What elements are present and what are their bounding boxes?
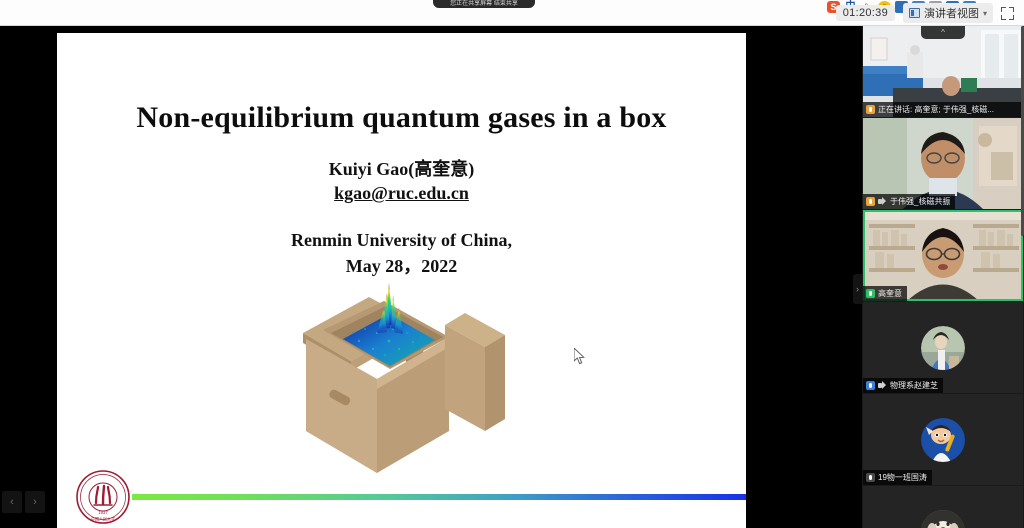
filmstrip-collapse-handle[interactable]: › [853, 274, 862, 304]
ruc-logo: 1937 中国人民大学 [75, 469, 131, 525]
participant-tile-gao-kuiyi[interactable]: 高奎意 [863, 210, 1023, 301]
author-name: Kuiyi Gao(高奎意) [57, 157, 746, 181]
slide-affiliation-block: Renmin University of China, May 28，2022 [57, 227, 746, 279]
avatar [921, 510, 965, 528]
participant-tile-speaking[interactable]: ^ 正在讲话: 高奎意; 于伟强_核磁... [863, 26, 1023, 117]
view-mode-switcher[interactable]: 演讲者视图 ▾ [903, 3, 993, 23]
participant-filmstrip[interactable]: ^ 正在讲话: 高奎意; 于伟强_核磁... 于伟强_核磁共振 [862, 26, 1024, 528]
mouse-cursor [574, 348, 586, 365]
svg-text:1937: 1937 [98, 510, 108, 515]
avatar [921, 326, 965, 370]
tile-name-guo-tao: 19物一班国涛 [878, 472, 927, 483]
filmstrip-collapse-icon[interactable]: ^ [921, 26, 965, 39]
microphone-muted-icon [866, 381, 875, 390]
presentation-slide: Non-equilibrium quantum gases in a box K… [57, 33, 746, 528]
speaker-icon [878, 381, 887, 390]
participant-tile-dog-avatar[interactable] [863, 486, 1023, 528]
meeting-timer: 01:20:39 [836, 5, 895, 21]
view-mode-label: 演讲者视图 [924, 5, 979, 21]
tile-name-speaking: 正在讲话: 高奎意; 于伟强_核磁... [878, 104, 994, 115]
microphone-active-icon [866, 289, 875, 298]
tile-label-gao-kuiyi: 高奎意 [863, 286, 907, 301]
tile-name-zhao-jianzhi: 物理系赵建芝 [890, 380, 938, 391]
slide-accent-bar [132, 494, 746, 500]
tile-label-zhao-jianzhi: 物理系赵建芝 [863, 378, 943, 393]
participant-tile-yu-weiqiang[interactable]: 于伟强_核磁共振 [863, 118, 1023, 209]
tile-label-speaking: 正在讲话: 高奎意; 于伟强_核磁... [863, 102, 1023, 117]
next-slide-button[interactable]: › [25, 491, 45, 513]
svg-text:中国人民大学: 中国人民大学 [91, 516, 115, 522]
topbar-right-controls: 01:20:39 演讲者视图 ▾ [836, 0, 1024, 26]
microphone-muted-icon [866, 473, 875, 482]
slide-title: Non-equilibrium quantum gases in a box [57, 101, 746, 135]
tile-name-gao-kuiyi: 高奎意 [878, 288, 902, 299]
microphone-icon [866, 197, 875, 206]
fullscreen-icon[interactable] [1001, 7, 1014, 20]
avatar [921, 418, 965, 462]
prev-slide-button[interactable]: ‹ [2, 491, 22, 513]
bec-in-a-box-figure [289, 281, 521, 483]
share-status-text: 您正在共享屏幕 结束共享 [450, 0, 518, 7]
tile-name-yu-weiqiang: 于伟强_核磁共振 [890, 196, 950, 207]
affiliation-line-1: Renmin University of China, [57, 227, 746, 253]
affiliation-line-2: May 28，2022 [57, 253, 746, 279]
avatar-container [863, 486, 1023, 528]
participant-tile-zhao-jianzhi[interactable]: 物理系赵建芝 [863, 302, 1023, 393]
speaker-icon [878, 197, 887, 206]
chevron-down-icon: ▾ [983, 9, 987, 18]
participant-tile-guo-tao[interactable]: 19物一班国涛 [863, 394, 1023, 485]
author-email-link[interactable]: kgao@ruc.edu.cn [334, 181, 469, 205]
tile-label-guo-tao: 19物一班国涛 [863, 470, 932, 485]
slide-author-block: Kuiyi Gao(高奎意) kgao@ruc.edu.cn [57, 157, 746, 206]
shared-screen-stage: Non-equilibrium quantum gases in a box K… [0, 26, 862, 528]
floating-share-toolbar[interactable]: 您正在共享屏幕 结束共享 [433, 0, 535, 8]
slide-navigation[interactable]: ‹ › [0, 490, 46, 514]
presenter-view-icon [909, 8, 920, 18]
microphone-icon [866, 105, 875, 114]
tile-label-yu-weiqiang: 于伟强_核磁共振 [863, 194, 955, 209]
